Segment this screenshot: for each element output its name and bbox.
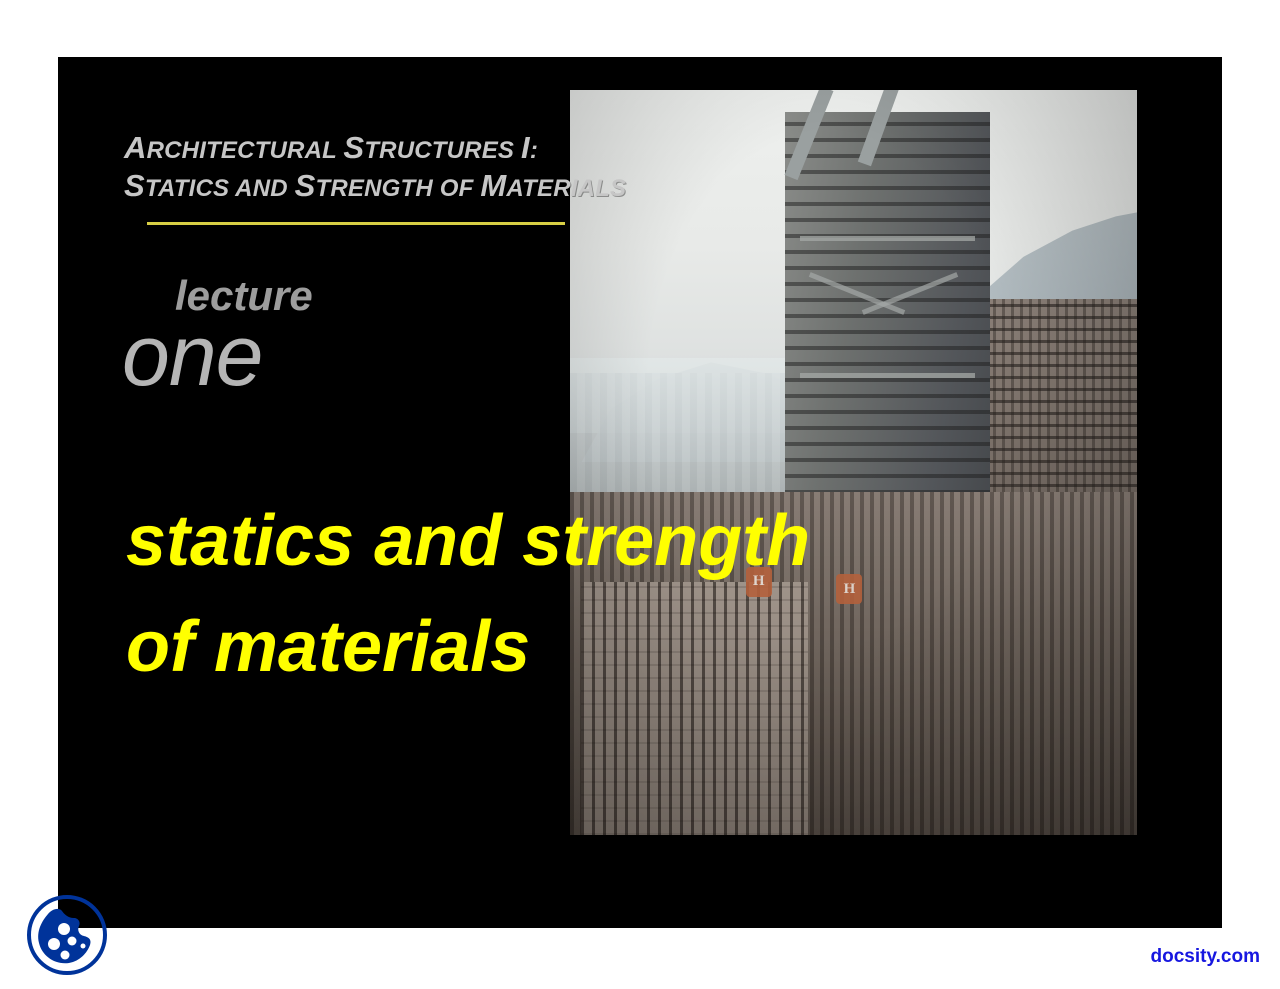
course-title-cap: A <box>124 130 147 165</box>
course-title-text: ATERIALS <box>506 175 626 202</box>
slide-canvas: H H ARCHITECTURAL STRUCTURES I: STATICS … <box>58 57 1222 928</box>
course-title-cap: S <box>295 168 316 203</box>
lecture-number: one <box>122 307 263 406</box>
course-title-line-2: STATICS AND STRENGTH OF MATERIALS <box>124 167 626 205</box>
photo-vignette <box>570 90 1137 835</box>
skyline-photo: H H <box>570 90 1137 835</box>
title-underline-rule <box>147 222 565 225</box>
course-title-text: TRENGTH OF <box>316 175 481 202</box>
course-title-cap: S <box>343 130 364 165</box>
course-title-cap: M <box>480 168 506 203</box>
slide-headline: statics and strength of materials <box>126 489 810 701</box>
course-title-text: TRUCTURES <box>364 137 521 164</box>
course-title-line-1: ARCHITECTURAL STRUCTURES I: <box>124 129 626 167</box>
course-title: ARCHITECTURAL STRUCTURES I: STATICS AND … <box>124 129 626 205</box>
slide-headline-line-2: of materials <box>126 595 810 701</box>
course-title-text: RCHITECTURAL <box>147 137 344 164</box>
docsity-logo <box>22 893 112 977</box>
slide-headline-line-1: statics and strength <box>126 501 810 581</box>
docsity-url-watermark: docsity.com <box>1151 946 1260 968</box>
course-title-cap: S <box>124 168 145 203</box>
course-title-text: : <box>530 137 538 164</box>
course-title-cap: I <box>521 130 530 165</box>
course-title-text: TATICS AND <box>145 175 295 202</box>
